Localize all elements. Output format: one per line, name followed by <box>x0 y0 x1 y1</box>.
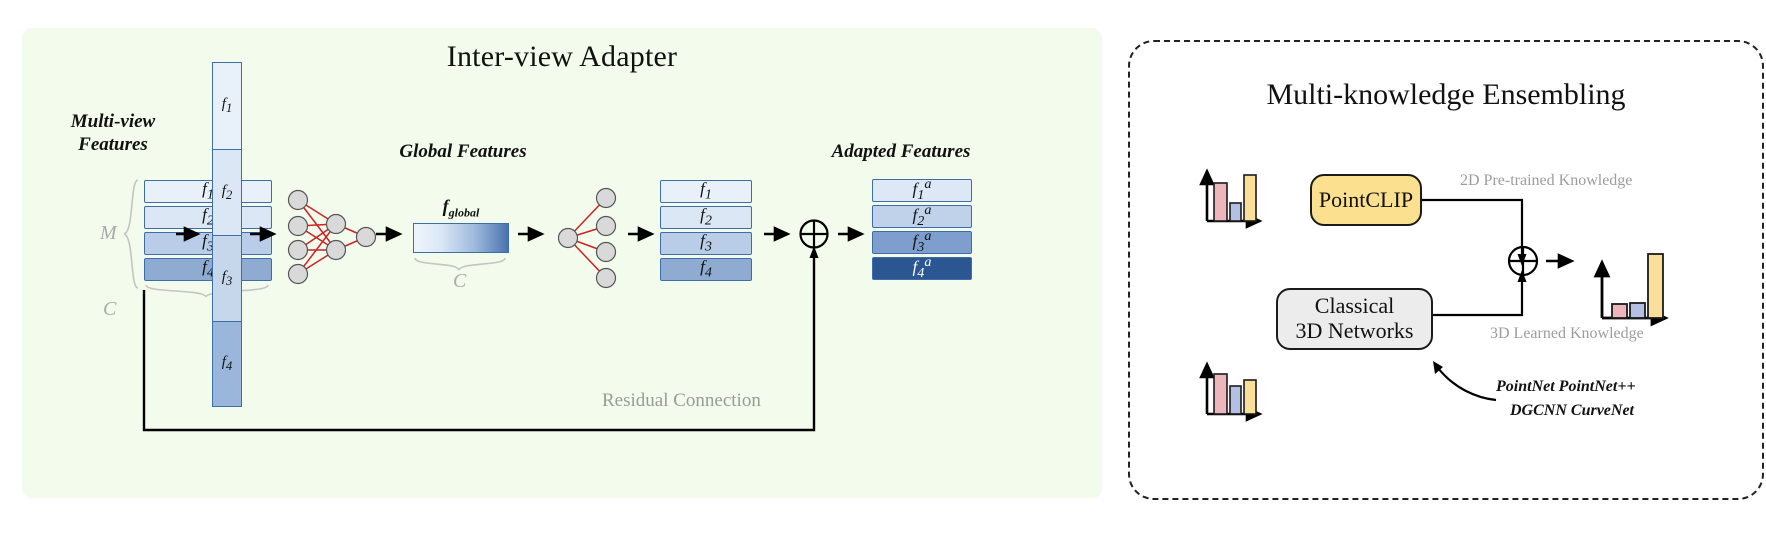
classical-network-names: PointNet PointNet++ DGCNN CurveNet <box>1496 375 1636 423</box>
global-feature-symbol: fglobal <box>408 196 514 220</box>
adapted-feature-box-4: f4a <box>872 257 972 280</box>
residual-add-operator <box>798 218 830 250</box>
classical-3d-networks-box[interactable]: Classical 3D Networks <box>1276 288 1433 350</box>
m-dimension-brace <box>120 178 142 290</box>
feature-label: f3 <box>700 231 712 255</box>
feature-label: f1 <box>700 179 712 203</box>
feature-label: f3a <box>913 228 932 256</box>
arrow-global-to-decoder <box>518 226 552 242</box>
concat-segment-2: f2 <box>213 149 241 235</box>
network-names-line-2: DGCNN CurveNet <box>1510 399 1634 423</box>
feature-label: f3 <box>222 269 232 289</box>
bar-1 <box>1214 183 1227 221</box>
arrow-network-names-to-box <box>1418 352 1508 410</box>
classical-3d-networks-label: Classical 3D Networks <box>1296 294 1414 343</box>
bar-2 <box>1230 386 1241 414</box>
pointclip-box[interactable]: PointCLIP <box>1310 174 1422 226</box>
pointclip-input-chart <box>1198 155 1268 230</box>
multi-view-features-caption: Multi-view Features <box>38 110 188 156</box>
global-feature-bar <box>413 223 509 253</box>
dimension-label-m: M <box>100 222 117 245</box>
global-features-caption: Global Features <box>388 140 538 163</box>
network-names-line-1: PointNet PointNet++ <box>1496 378 1636 395</box>
caption-line-2: Features <box>78 134 148 155</box>
classical-3d-input-chart <box>1198 348 1268 423</box>
pointclip-label: PointCLIP <box>1319 188 1413 213</box>
arrow-multiview-to-concat <box>176 226 206 242</box>
caption-line-1: Multi-view <box>71 111 155 132</box>
multi-knowledge-ensembling-title: Multi-knowledge Ensembling <box>1128 78 1764 112</box>
arrow-output-to-add <box>764 226 798 242</box>
feature-label: f2 <box>222 183 232 203</box>
adapted-feature-box-1: f1a <box>872 179 972 202</box>
mlp-encoder-graph <box>286 188 376 288</box>
output-feature-box-4: f4 <box>660 258 752 281</box>
arrow-concat-to-mlp <box>250 226 284 242</box>
inter-view-adapter-title: Inter-view Adapter <box>22 40 1102 74</box>
bar-3 <box>1244 380 1256 414</box>
bar-2 <box>1630 303 1645 318</box>
label-line-1: Classical <box>1315 293 1394 318</box>
adapted-feature-box-3: f3a <box>872 231 972 254</box>
output-feature-box-2: f2 <box>660 206 752 229</box>
residual-connection-label: Residual Connection <box>602 390 761 412</box>
arrow-add-to-adapted <box>838 226 872 242</box>
feature-label: f1a <box>913 176 932 204</box>
feature-label: f2a <box>913 202 932 230</box>
ensemble-add-operator <box>1506 244 1540 278</box>
bar-1 <box>1612 304 1627 318</box>
bar-2 <box>1230 203 1241 221</box>
label-line-2: 3D Networks <box>1296 318 1414 343</box>
ensembled-output-chart <box>1592 240 1672 330</box>
output-feature-box-1: f1 <box>660 180 752 203</box>
adapted-feature-box-2: f2a <box>872 205 972 228</box>
adapted-features-caption: Adapted Features <box>806 140 996 163</box>
multiview-feature-box-1: f1 <box>144 180 272 203</box>
feature-label: f2 <box>700 205 712 229</box>
residual-connection-path <box>138 290 828 450</box>
arrow-add-to-output-chart <box>1546 252 1586 270</box>
bar-3 <box>1244 175 1256 221</box>
label-2d-pretrained-knowledge: 2D Pre-trained Knowledge <box>1460 172 1632 190</box>
mlp-decoder-graph <box>556 186 626 290</box>
feature-label: f4a <box>913 254 932 282</box>
feature-label: f4 <box>700 257 712 281</box>
bar-1 <box>1214 374 1227 414</box>
concat-segment-1: f1 <box>213 63 241 149</box>
diagram-canvas: Inter-view Adapter Multi-view Features M… <box>0 0 1766 550</box>
feature-label: f1 <box>222 96 232 116</box>
arrow-mlp-to-global <box>376 226 410 242</box>
bar-3 <box>1648 254 1663 318</box>
multiview-feature-box-4: f4 <box>144 258 272 281</box>
output-feature-box-3: f3 <box>660 232 752 255</box>
arrow-decoder-to-output <box>628 226 662 242</box>
dimension-label-c-left: C <box>103 298 116 321</box>
